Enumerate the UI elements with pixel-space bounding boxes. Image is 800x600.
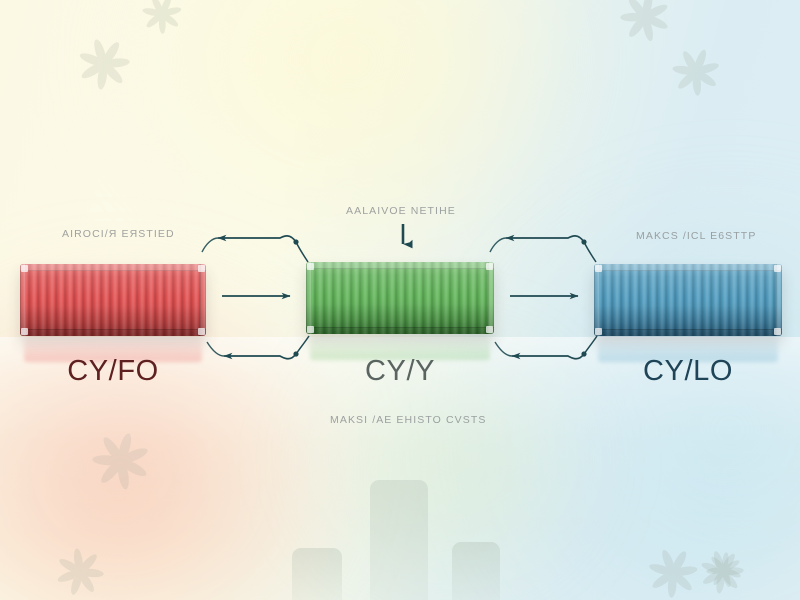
container-top-rail — [594, 264, 782, 271]
container-right-post — [488, 262, 494, 334]
deco-bar-1 — [292, 548, 342, 600]
container-top-rail — [306, 262, 494, 269]
container-bottom-rail — [594, 329, 782, 336]
deco-bar-3 — [452, 542, 500, 600]
arrow-mid-to-right-top — [490, 236, 596, 262]
leaf-5-icon — [85, 425, 157, 497]
container-label-cy-lo: CY/LO — [594, 355, 782, 388]
container-body-cy-y — [306, 262, 494, 334]
deco-bar-2 — [370, 480, 428, 600]
caption-top-right: MAKCS /ICL E6STTP — [636, 230, 756, 242]
container-bottom-rail — [306, 327, 494, 334]
arrow-left-to-mid-top — [202, 236, 308, 262]
container-label-cy-fo: CY/FO — [20, 355, 206, 388]
arrow-mid-to-right-bottom — [495, 336, 597, 359]
corner-casting-bottom-left — [307, 326, 314, 333]
leaf-6-icon — [53, 545, 107, 599]
container-left-post — [20, 264, 26, 336]
container-body-cy-lo — [594, 264, 782, 336]
leaf-2-icon — [136, 0, 189, 40]
corner-casting-bottom-left — [21, 328, 28, 335]
corner-casting-bottom-right — [198, 328, 205, 335]
corner-casting-top-left — [595, 265, 602, 272]
container-left-post — [594, 264, 600, 336]
diagram-canvas: CY/FOCY/YCY/LO AIROCI/Я EЯSTIEDAALAIVOE … — [0, 0, 800, 600]
caption-top-center: AALAIVOE NETIHE — [346, 205, 456, 217]
leaf-7-icon — [691, 541, 752, 600]
leaf-3-icon — [615, 0, 674, 47]
container-cy-y[interactable] — [306, 262, 494, 334]
corner-casting-top-left — [21, 265, 28, 272]
leaf-9-icon — [704, 550, 745, 591]
leaf-8-icon — [640, 540, 705, 600]
container-bottom-rail — [20, 329, 206, 336]
corner-casting-top-left — [307, 263, 314, 270]
caption-bottom: MAKSI /AE EHISTO CVSTS — [330, 414, 486, 426]
container-right-post — [776, 264, 782, 336]
corner-casting-top-right — [486, 263, 493, 270]
arrow-left-to-mid-bottom — [207, 336, 309, 359]
container-left-post — [306, 262, 312, 334]
corner-casting-top-right — [198, 265, 205, 272]
container-shading — [594, 264, 782, 336]
container-body-cy-fo — [20, 264, 206, 336]
container-cy-fo[interactable] — [20, 264, 206, 336]
leaf-4-icon — [663, 39, 729, 105]
container-shading — [20, 264, 206, 336]
container-right-post — [200, 264, 206, 336]
corner-casting-bottom-right — [486, 326, 493, 333]
background-tint-right — [470, 180, 800, 600]
corner-casting-top-right — [774, 265, 781, 272]
container-top-rail — [20, 264, 206, 271]
container-shading — [306, 262, 494, 334]
leaf-1-icon — [71, 31, 137, 97]
caption-top-left: AIROCI/Я EЯSTIED — [62, 228, 175, 240]
corner-casting-bottom-right — [774, 328, 781, 335]
container-cy-lo[interactable] — [594, 264, 782, 336]
container-label-cy-y: CY/Y — [306, 355, 494, 388]
corner-casting-bottom-left — [595, 328, 602, 335]
